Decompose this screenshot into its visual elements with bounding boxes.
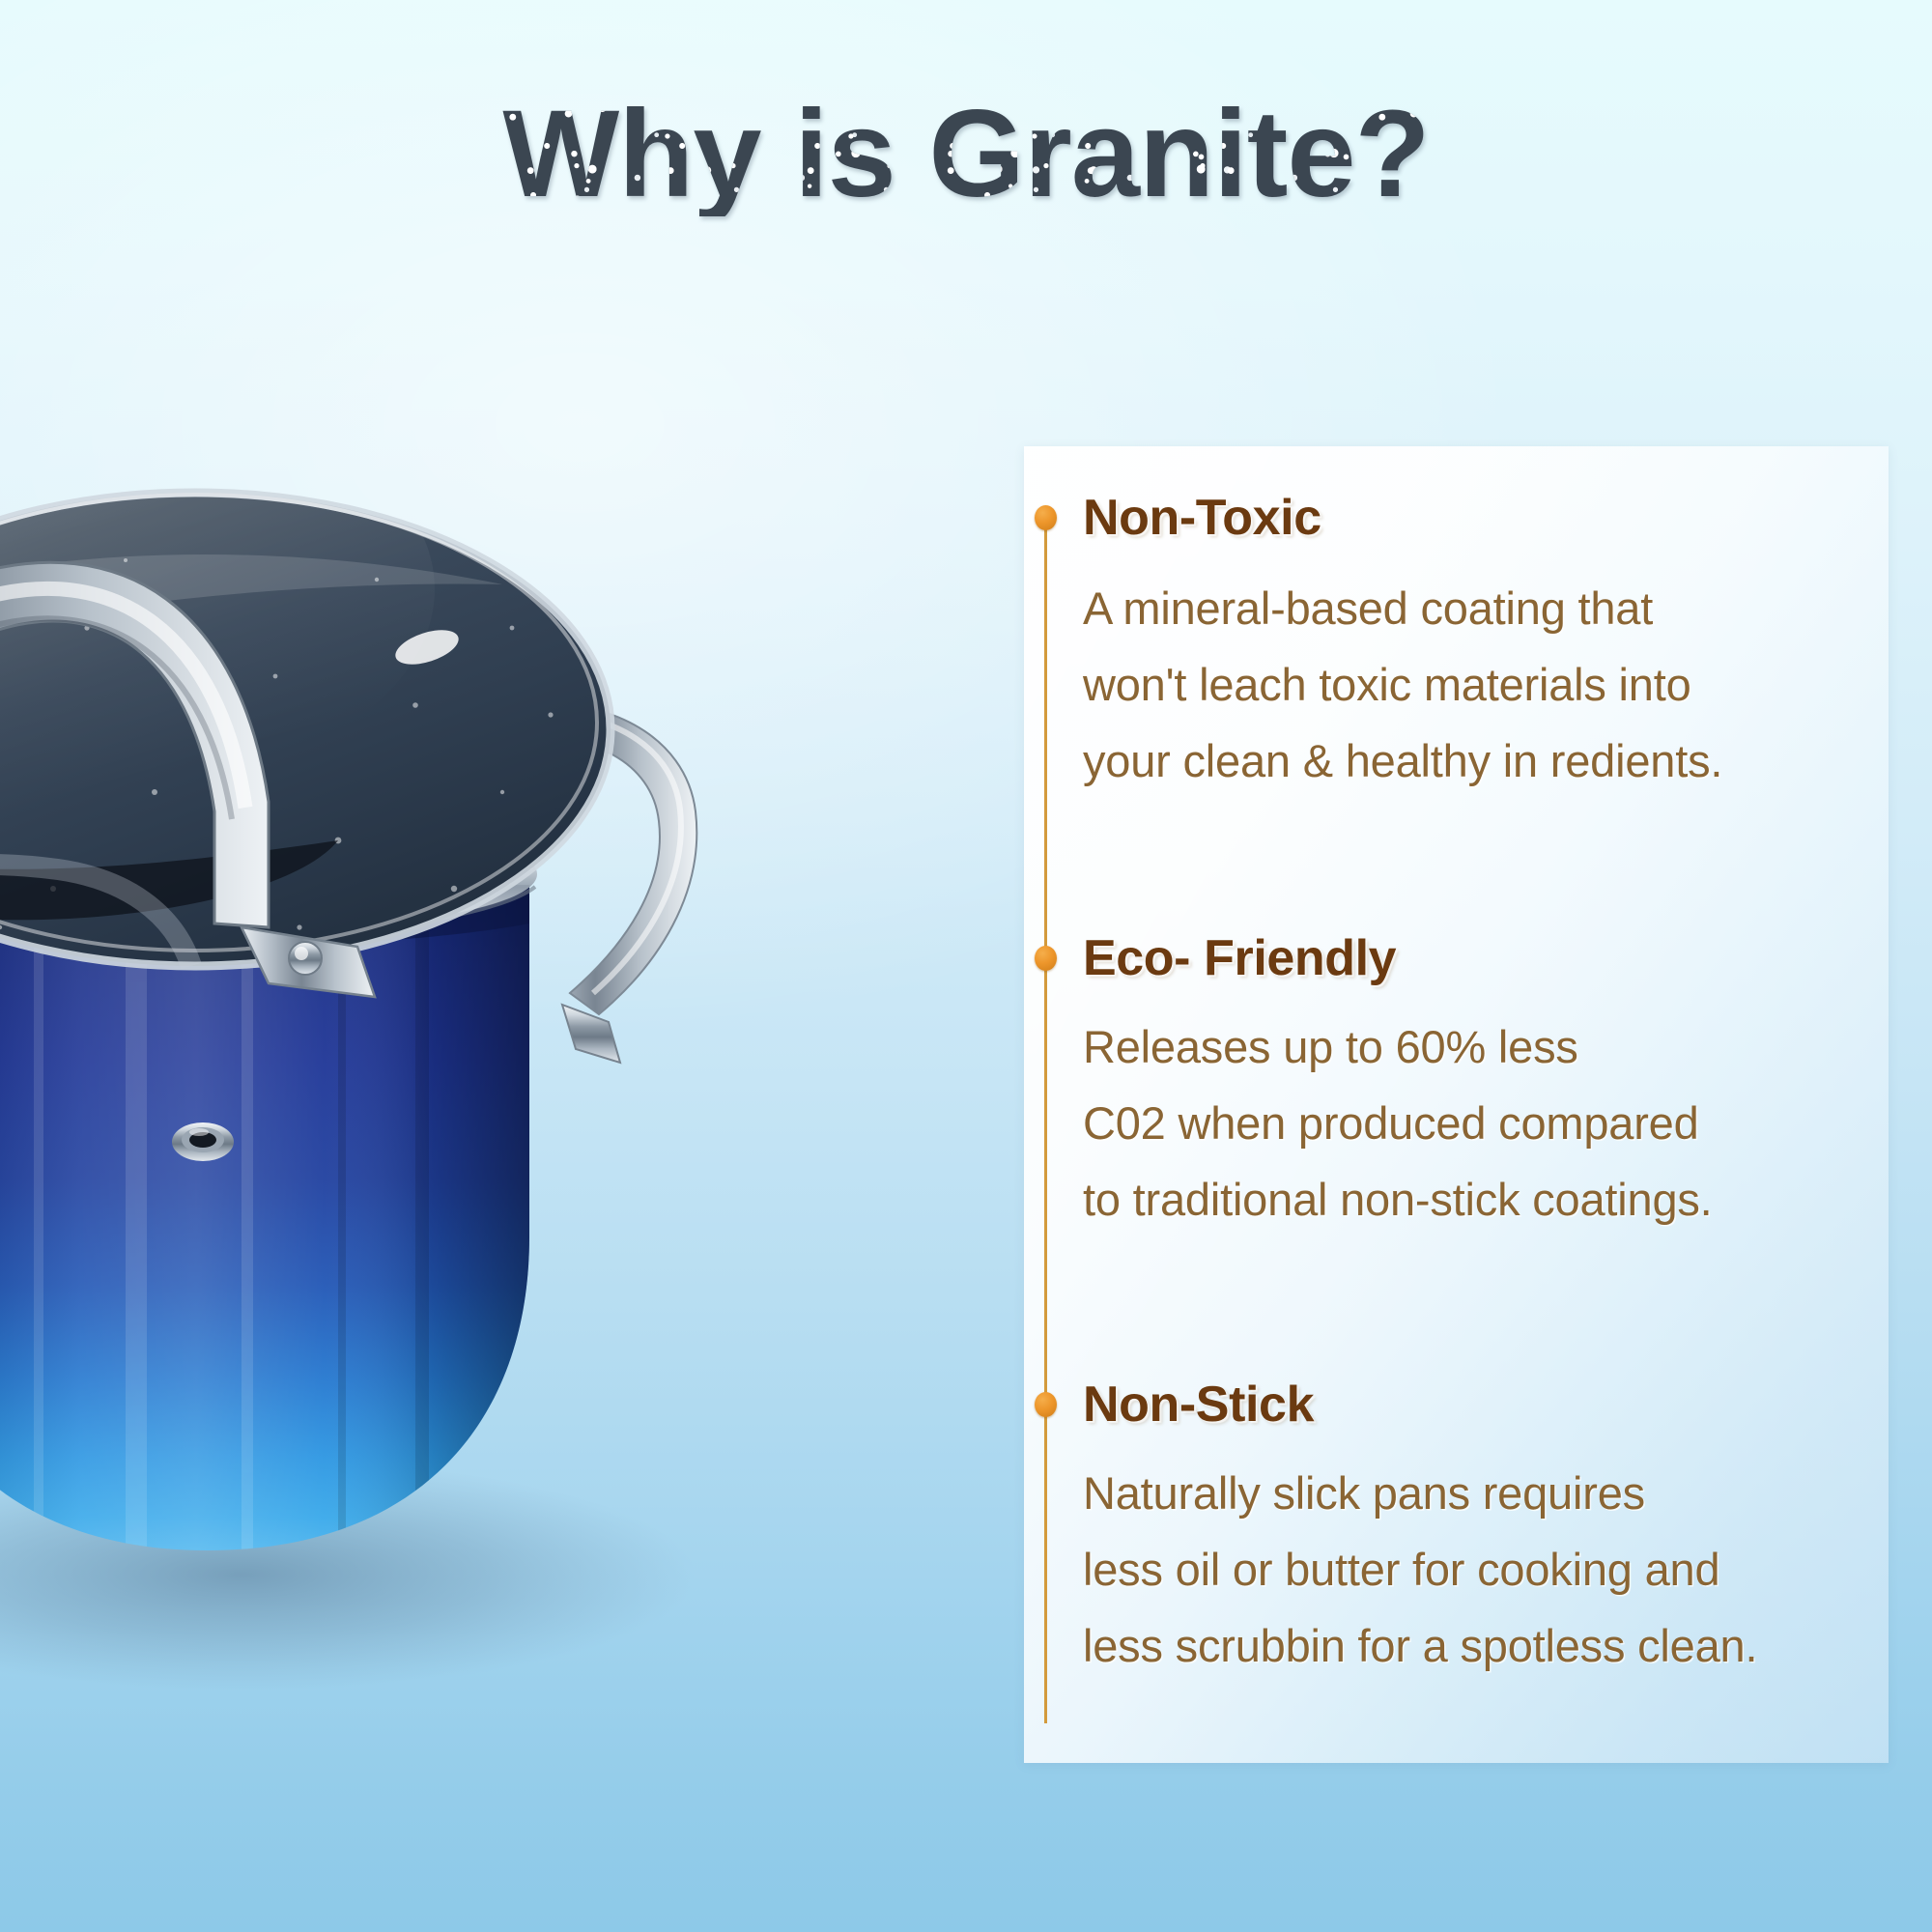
lid-steam-vent — [172, 1122, 234, 1161]
feature-text-column: Non-Stick Naturally slick pans requires … — [1083, 1379, 1889, 1684]
orange-dot-icon — [1035, 505, 1057, 530]
feature-body-line: A mineral-based coating that — [1083, 570, 1889, 646]
feature-body: Naturally slick pans requires less oil o… — [1083, 1455, 1889, 1684]
feature-body: A mineral-based coating that won't leach… — [1083, 570, 1889, 799]
page-title-container: Why is Granite? — [0, 93, 1932, 216]
infographic-canvas: Why is Granite? — [0, 0, 1932, 1932]
pot-body — [0, 885, 529, 1561]
feature-heading: Eco- Friendly — [1083, 933, 1889, 983]
product-image-cooking-pot — [0, 386, 860, 1787]
feature-text-column: Non-Toxic A mineral-based coating that w… — [1083, 493, 1889, 799]
feature-text-column: Eco- Friendly Releases up to 60% less C0… — [1083, 933, 1889, 1237]
feature-heading: Non-Toxic — [1083, 493, 1889, 543]
feature-non-stick: Non-Stick Naturally slick pans requires … — [1024, 1379, 1889, 1684]
feature-body-line: your clean & healthy in redients. — [1083, 723, 1889, 799]
feature-body: Releases up to 60% less C02 when produce… — [1083, 1009, 1889, 1237]
feature-body-line: Releases up to 60% less — [1083, 1009, 1889, 1085]
features-panel: Non-Toxic A mineral-based coating that w… — [1024, 446, 1889, 1763]
feature-eco-friendly: Eco- Friendly Releases up to 60% less C0… — [1024, 933, 1889, 1237]
feature-body-line: less oil or butter for cooking and — [1083, 1531, 1889, 1607]
feature-body-line: Naturally slick pans requires — [1083, 1455, 1889, 1531]
feature-heading: Non-Stick — [1083, 1379, 1889, 1430]
feature-body-line: less scrubbin for a spotless clean. — [1083, 1607, 1889, 1684]
feature-non-toxic: Non-Toxic A mineral-based coating that w… — [1024, 493, 1889, 799]
orange-dot-icon — [1035, 1392, 1057, 1417]
page-title: Why is Granite? — [502, 93, 1429, 216]
feature-body-line: won't leach toxic materials into — [1083, 646, 1889, 723]
feature-body-line: C02 when produced compared — [1083, 1085, 1889, 1161]
orange-dot-icon — [1035, 946, 1057, 971]
feature-body-line: to traditional non-stick coatings. — [1083, 1161, 1889, 1237]
